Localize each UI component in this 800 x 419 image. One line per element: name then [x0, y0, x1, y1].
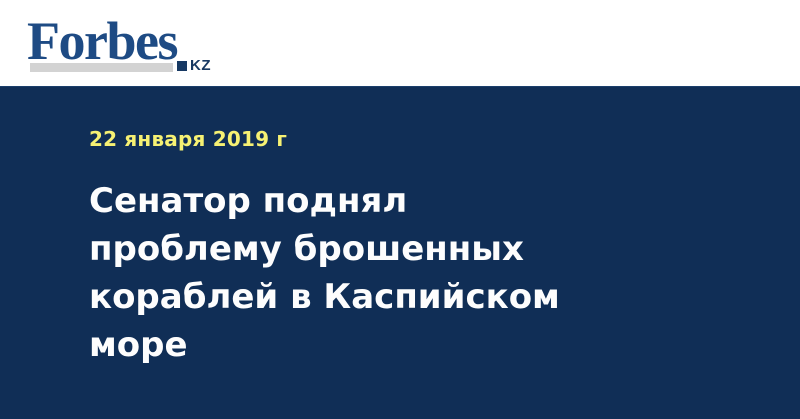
blue-square-icon [177, 61, 187, 71]
hero-content: 22 января 2019 г Сенатор поднял проблему… [89, 87, 740, 369]
site-header: Forbes KZ [0, 0, 800, 86]
gray-rule-icon [30, 63, 173, 72]
logo-locale-label: KZ [190, 58, 211, 73]
article-hero-page: Forbes KZ 22 января 2019 г Сенатор подня… [0, 0, 800, 419]
article-headline[interactable]: Сенатор поднял проблему брошенных корабл… [89, 177, 609, 369]
publish-date: 22 января 2019 г [89, 127, 740, 151]
hero-banner: 22 января 2019 г Сенатор поднял проблему… [0, 86, 800, 419]
logo-wordmark: Forbes [27, 14, 177, 68]
forbes-kz-logo[interactable]: Forbes KZ [27, 14, 227, 76]
